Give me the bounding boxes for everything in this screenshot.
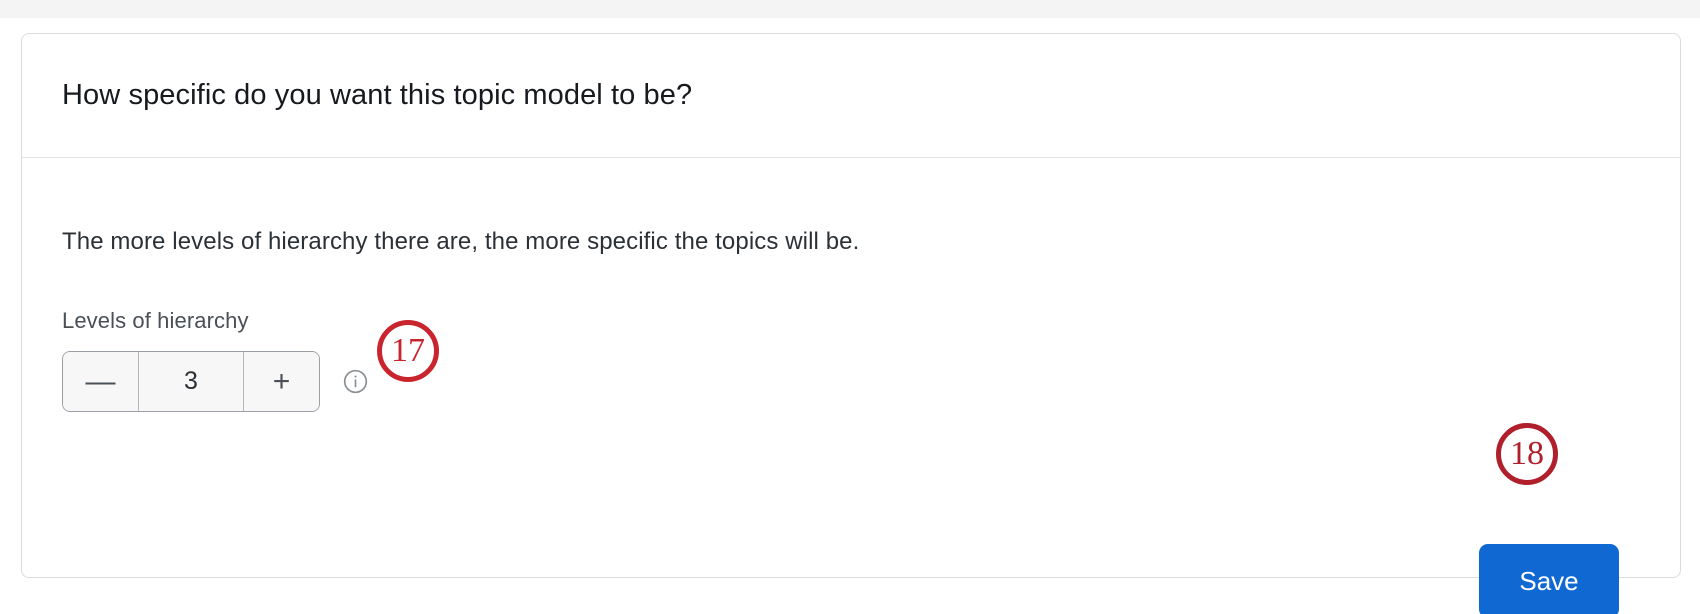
card-description: The more levels of hierarchy there are, … — [62, 228, 859, 256]
stepper-value[interactable]: 3 — [139, 352, 243, 411]
card-title: How specific do you want this topic mode… — [62, 79, 692, 112]
stepper-increment-button[interactable]: + — [243, 352, 319, 411]
levels-of-hierarchy-label: Levels of hierarchy — [62, 308, 249, 334]
annotation-badge-17: 17 — [377, 320, 439, 382]
page-top-strip — [0, 0, 1700, 18]
screenshot-root: How specific do you want this topic mode… — [0, 0, 1700, 614]
card-body: The more levels of hierarchy there are, … — [22, 158, 1680, 578]
levels-of-hierarchy-field: — 3 + — [62, 351, 369, 412]
annotation-badge-18: 18 — [1496, 423, 1558, 485]
save-button[interactable]: Save — [1479, 544, 1619, 614]
card-header: How specific do you want this topic mode… — [22, 34, 1680, 158]
info-circle-icon[interactable] — [342, 368, 369, 395]
topic-model-settings-card: How specific do you want this topic mode… — [21, 33, 1681, 578]
stepper-decrement-button[interactable]: — — [63, 352, 139, 411]
levels-of-hierarchy-stepper[interactable]: — 3 + — [62, 351, 320, 412]
